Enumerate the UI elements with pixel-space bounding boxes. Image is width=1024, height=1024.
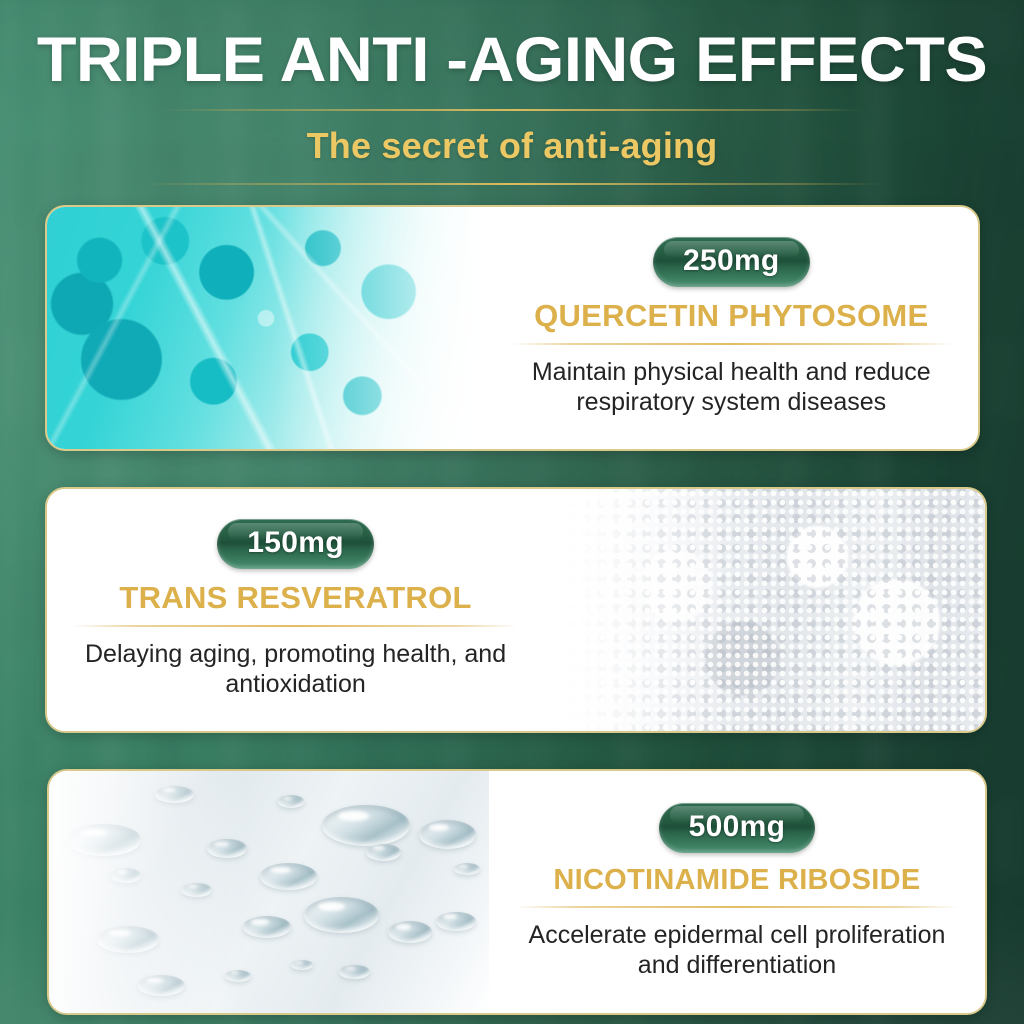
page-title: TRIPLE ANTI -AGING EFFECTS (0, 28, 1024, 92)
water-droplet (137, 975, 185, 997)
water-droplet (155, 786, 195, 803)
ingredient-image-teal-liquid (47, 207, 485, 449)
ingredient-description: Accelerate epidermal cell proliferation … (515, 920, 959, 980)
title-divider-top (162, 109, 862, 111)
ingredient-card[interactable]: 150mg TRANS RESVERATROL Delaying aging, … (45, 487, 987, 733)
ingredient-name: NICOTINAMIDE RIBOSIDE (553, 864, 920, 897)
ingredient-card[interactable]: 500mg NICOTINAMIDE RIBOSIDE Accelerate e… (47, 769, 987, 1015)
water-droplet (225, 970, 251, 982)
ingredient-divider (515, 906, 959, 908)
water-droplet (97, 926, 159, 953)
ingredient-name: QUERCETIN PHYTOSOME (534, 298, 928, 334)
water-droplet (111, 868, 142, 883)
ingredient-description: Maintain physical health and reduce resp… (511, 357, 952, 417)
water-droplet (419, 820, 476, 849)
ingredient-image-water-droplets (49, 771, 489, 1013)
header: TRIPLE ANTI -AGING EFFECTS The secret of… (0, 0, 1024, 185)
water-droplet (388, 921, 432, 943)
ingredient-card-content: 500mg NICOTINAMIDE RIBOSIDE Accelerate e… (489, 771, 985, 1013)
water-droplet (322, 805, 410, 846)
dosage-badge: 500mg (659, 803, 816, 853)
water-droplet (436, 912, 476, 931)
ingredient-description: Delaying aging, promoting health, and an… (73, 639, 518, 699)
ingredient-divider (73, 625, 518, 627)
ingredient-name: TRANS RESVERATROL (119, 580, 471, 616)
ingredient-image-white-powder (544, 489, 985, 731)
infographic-poster: TRIPLE ANTI -AGING EFFECTS The secret of… (0, 0, 1024, 1024)
dosage-badge: 150mg (217, 519, 374, 569)
water-droplet (366, 844, 401, 861)
water-droplet (260, 863, 317, 890)
ingredient-divider (511, 343, 952, 345)
water-droplet (291, 960, 313, 970)
title-divider-bottom (142, 183, 882, 185)
water-droplet (304, 897, 379, 933)
water-droplet (67, 824, 142, 855)
water-droplet (207, 839, 247, 858)
water-droplet (243, 916, 291, 938)
water-droplet (181, 883, 212, 898)
water-droplet (339, 965, 370, 980)
water-droplet (278, 795, 304, 807)
dosage-badge: 250mg (653, 237, 810, 287)
ingredient-card-list: 250mg QUERCETIN PHYTOSOME Maintain physi… (0, 205, 1024, 1015)
water-droplet (454, 863, 480, 875)
page-subtitle: The secret of anti-aging (0, 125, 1024, 167)
ingredient-card-content: 150mg TRANS RESVERATROL Delaying aging, … (47, 489, 544, 731)
ingredient-card[interactable]: 250mg QUERCETIN PHYTOSOME Maintain physi… (45, 205, 980, 451)
ingredient-card-content: 250mg QUERCETIN PHYTOSOME Maintain physi… (485, 207, 978, 449)
